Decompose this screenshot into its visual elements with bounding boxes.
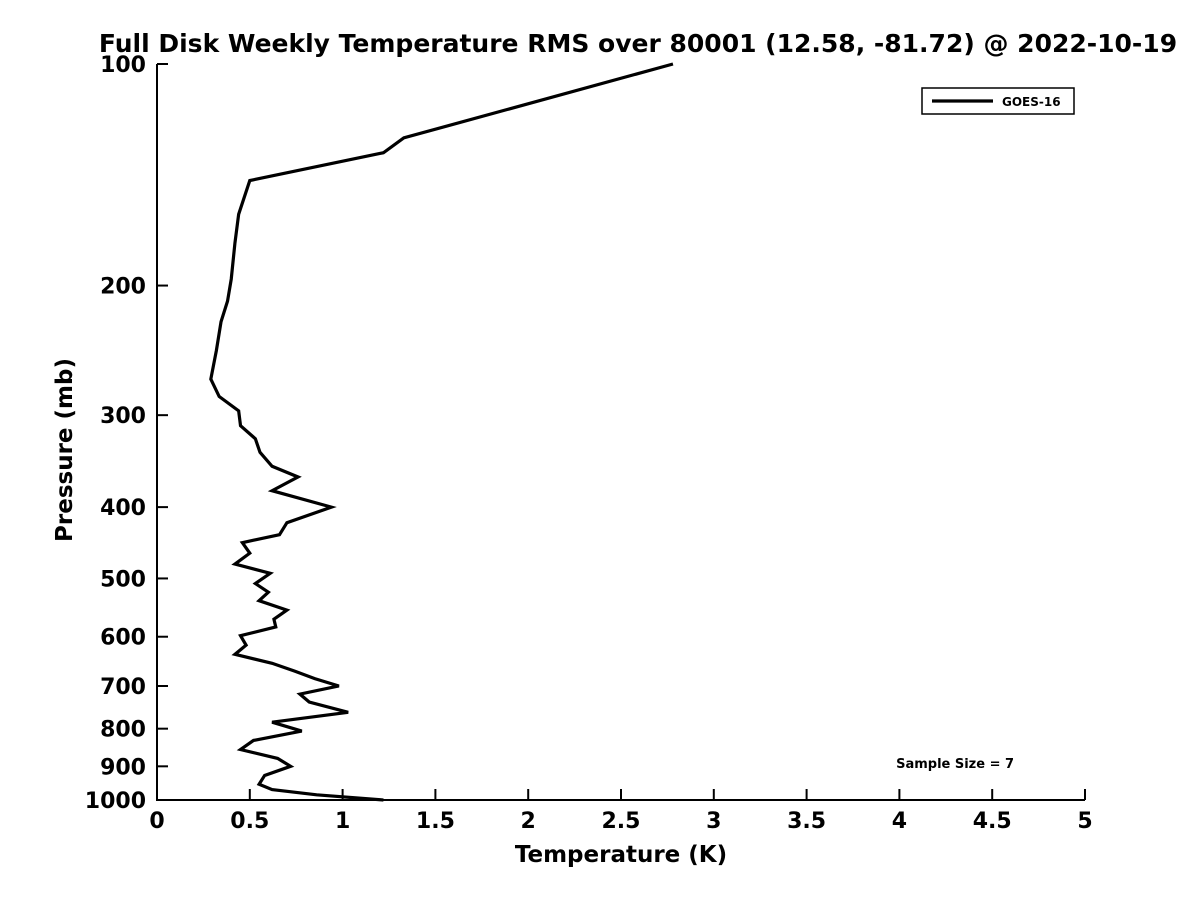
x-tick-label: 5	[1077, 809, 1092, 834]
axes-spines	[157, 64, 1085, 800]
x-tick-label: 0	[149, 809, 164, 834]
x-tick-label: 2	[521, 809, 536, 834]
y-tick-label: 900	[100, 755, 146, 780]
chart-annotations: Sample Size = 7	[896, 757, 1014, 772]
x-tick-label: 1.5	[416, 809, 455, 834]
y-tick-label: 500	[100, 567, 146, 592]
y-tick-label: 700	[100, 675, 146, 700]
x-axis-label: Temperature (K)	[515, 842, 727, 868]
x-tick-label: 3	[706, 809, 721, 834]
chart-title: Full Disk Weekly Temperature RMS over 80…	[99, 29, 1177, 58]
x-tick-label: 4.5	[973, 809, 1012, 834]
legend-label-goes-16: GOES-16	[1002, 95, 1061, 109]
y-tick-label: 1000	[85, 789, 146, 814]
x-tick-label: 1	[335, 809, 350, 834]
chart-svg: Full Disk Weekly Temperature RMS over 80…	[0, 0, 1200, 900]
x-tick-label: 0.5	[230, 809, 269, 834]
data-series-group	[211, 64, 673, 800]
x-tick-label: 4	[892, 809, 907, 834]
chart-legend[interactable]: GOES-16	[922, 88, 1074, 114]
x-tick-label: 2.5	[602, 809, 641, 834]
y-axis-label: Pressure (mb)	[52, 358, 78, 542]
series-line-goes-16	[211, 64, 673, 800]
y-tick-label: 800	[100, 718, 146, 743]
x-axis-ticks: 00.511.522.533.544.55	[149, 789, 1092, 834]
y-tick-label: 200	[100, 275, 146, 300]
sample-size-annotation: Sample Size = 7	[896, 757, 1014, 772]
figure-canvas: Full Disk Weekly Temperature RMS over 80…	[0, 0, 1200, 900]
y-tick-label: 300	[100, 404, 146, 429]
y-axis-ticks: 1002003004005006007008009001000	[85, 53, 168, 814]
x-tick-label: 3.5	[787, 809, 826, 834]
y-tick-label: 100	[100, 53, 146, 78]
y-tick-label: 600	[100, 626, 146, 651]
y-tick-label: 400	[100, 496, 146, 521]
